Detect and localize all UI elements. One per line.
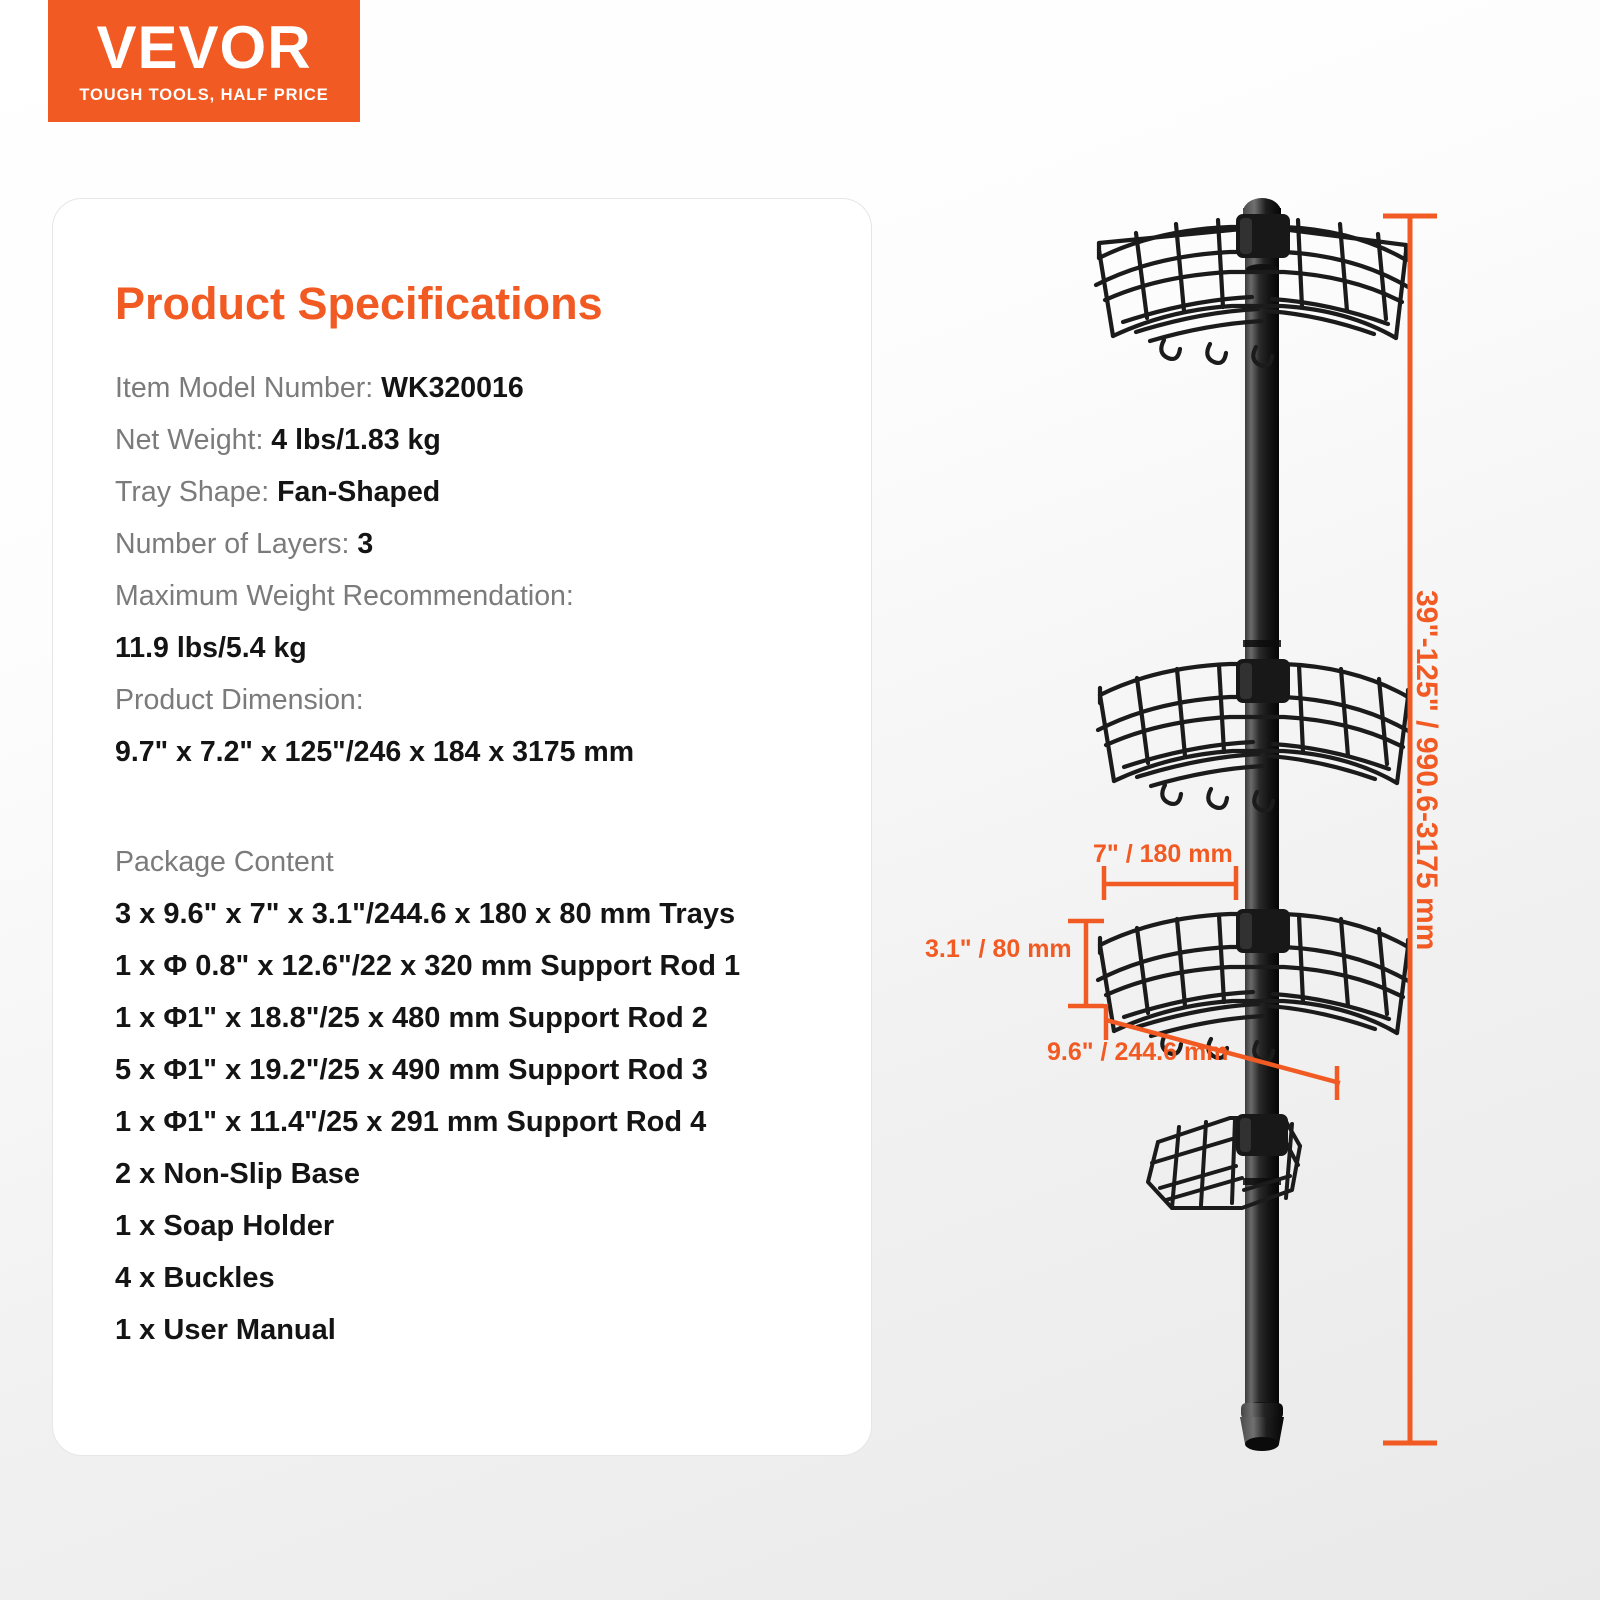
spec-row-dimension-value: 9.7" x 7.2" x 125"/246 x 184 x 3175 mm bbox=[115, 726, 841, 778]
spec-label: Net Weight: bbox=[115, 424, 271, 456]
package-item: 1 x Soap Holder bbox=[115, 1200, 841, 1252]
brand-tagline: TOUGH TOOLS, HALF PRICE bbox=[79, 87, 328, 104]
spec-label: Number of Layers: bbox=[115, 528, 357, 560]
spec-row-dimension-label: Product Dimension: bbox=[115, 674, 841, 726]
package-item: 1 x Φ 0.8" x 12.6"/22 x 320 mm Support R… bbox=[115, 940, 841, 992]
dimension-label-total-height: 39"-125" / 990.6-3175 mm bbox=[1411, 590, 1441, 950]
spec-value: Fan-Shaped bbox=[277, 476, 440, 508]
package-item: 1 x Φ1" x 18.8"/25 x 480 mm Support Rod … bbox=[115, 992, 841, 1044]
package-item: 1 x User Manual bbox=[115, 1304, 841, 1356]
package-item: 4 x Buckles bbox=[115, 1252, 841, 1304]
basket-bracket-middle bbox=[1236, 659, 1290, 703]
spec-label: Item Model Number: bbox=[115, 372, 381, 404]
spec-row-tray-shape: Tray Shape: Fan-Shaped bbox=[115, 466, 841, 518]
spec-row-model: Item Model Number: WK320016 bbox=[115, 362, 841, 414]
spec-row-max-weight-value: 11.9 lbs/5.4 kg bbox=[115, 622, 841, 674]
spec-value: 3 bbox=[357, 528, 373, 560]
package-content-heading: Package Content bbox=[115, 836, 841, 888]
spec-value: 4 lbs/1.83 kg bbox=[271, 424, 441, 456]
product-illustration bbox=[900, 0, 1600, 1600]
basket-bracket-top bbox=[1236, 214, 1290, 258]
package-item: 3 x 9.6" x 7" x 3.1"/244.6 x 180 x 80 mm… bbox=[115, 888, 841, 940]
brand-name: VEVOR bbox=[96, 18, 311, 78]
vevor-logo: VEVOR TOUGH TOOLS, HALF PRICE bbox=[48, 0, 360, 122]
spec-row-max-weight-label: Maximum Weight Recommendation: bbox=[115, 570, 841, 622]
specification-card: Product Specifications Item Model Number… bbox=[52, 198, 872, 1456]
tension-pole bbox=[1240, 198, 1284, 1451]
product-spec-page: VEVOR TOUGH TOOLS, HALF PRICE Product Sp… bbox=[0, 0, 1600, 1600]
package-item: 2 x Non-Slip Base bbox=[115, 1148, 841, 1200]
dimension-label-tray-depth: 3.1" / 80 mm bbox=[925, 937, 1072, 962]
package-item: 1 x Φ1" x 11.4"/25 x 291 mm Support Rod … bbox=[115, 1096, 841, 1148]
package-item: 5 x Φ1" x 19.2"/25 x 490 mm Support Rod … bbox=[115, 1044, 841, 1096]
spec-row-layers: Number of Layers: 3 bbox=[115, 518, 841, 570]
dimension-label-tray-width-bottom: 9.6" / 244.6 mm bbox=[1047, 1040, 1228, 1065]
soap-holder-bracket bbox=[1236, 1114, 1288, 1156]
page-title: Product Specifications bbox=[115, 281, 841, 326]
dimension-label-tray-width-top: 7" / 180 mm bbox=[1093, 842, 1233, 867]
spec-label: Tray Shape: bbox=[115, 476, 277, 508]
spec-value: WK320016 bbox=[381, 372, 524, 404]
spec-row-net-weight: Net Weight: 4 lbs/1.83 kg bbox=[115, 414, 841, 466]
basket-bracket-lower bbox=[1236, 909, 1290, 953]
